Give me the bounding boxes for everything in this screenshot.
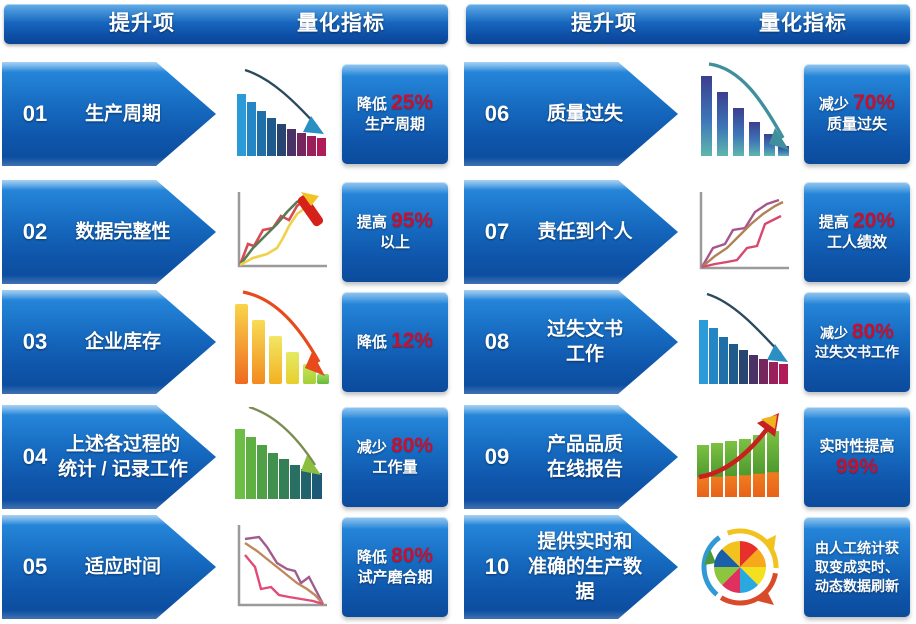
row-item-label: 提供实时和 准确的生产数据 [520, 530, 650, 605]
header-improvement-item-label: 提升项 [62, 10, 222, 38]
row-chevron[interactable]: 01 生产周期 [2, 62, 216, 166]
left-header-bar: 提升项 量化指标 [4, 4, 448, 44]
metric-value: 80% [852, 320, 894, 343]
metric-line-3: 动态数据刷新 [815, 577, 899, 596]
metric-subline: 工人绩效 [819, 233, 895, 253]
descending-bar-chart-orange-green-icon [218, 290, 338, 394]
table-row[interactable]: 01 生产周期 [0, 62, 450, 166]
metric-text: 提高 95% 以上 [354, 211, 436, 253]
metric-subline: 质量过失 [819, 115, 895, 135]
metric-text: 减少 70% 质量过失 [816, 93, 898, 135]
table-row[interactable]: 02 数据完整性 提高 95% 以上 [0, 180, 450, 284]
metric-badge: 减少 80% 过失文书工作 [804, 292, 910, 392]
row-item-label: 责任到个人 [520, 220, 650, 245]
header-improvement-item-label: 提升项 [524, 10, 684, 38]
row-number: 10 [474, 554, 520, 580]
rising-line-chart-pink-brown-icon [680, 180, 800, 284]
metric-text: 由人工统计获 取变成实时、 动态数据刷新 [812, 539, 902, 596]
metric-value: 95% [391, 209, 433, 232]
descending-bar-chart-blue-magenta-icon [218, 62, 338, 166]
metric-subline: 工作量 [357, 458, 433, 478]
row-item-label: 数据完整性 [58, 220, 188, 245]
metric-line-2: 取变成实时、 [815, 558, 899, 577]
row-item-label: 生产周期 [58, 102, 188, 127]
row-number: 05 [12, 554, 58, 580]
table-row[interactable]: 04 上述各过程的 统计 / 记录工作 [0, 405, 450, 509]
metric-prefix: 提高 [819, 214, 853, 231]
metric-value: 80% [391, 544, 433, 567]
table-row[interactable]: 05 适应时间 降低 80% 试产磨合期 [0, 515, 450, 619]
metric-prefix: 降低 [357, 549, 391, 566]
metric-value: 70% [853, 91, 895, 114]
right-panel: 提升项 量化指标 06 质量过失 [462, 0, 912, 624]
row-chevron[interactable]: 09 产品品质 在线报告 [464, 405, 678, 509]
metric-prefix: 减少 [819, 96, 853, 113]
metric-badge: 降低 80% 试产磨合期 [342, 517, 448, 617]
table-row[interactable]: 08 过失文书 工作 [462, 290, 912, 394]
row-item-label: 企业库存 [58, 330, 188, 355]
row-item-label: 适应时间 [58, 555, 188, 580]
row-number: 07 [474, 219, 520, 245]
metric-prefix: 减少 [820, 325, 852, 341]
header-quantified-metric-label: 量化指标 [256, 10, 426, 38]
row-item-label: 质量过失 [520, 102, 650, 127]
row-item-label: 上述各过程的 统计 / 记录工作 [58, 432, 188, 482]
table-row[interactable]: 07 责任到个人 提高 20% 工人绩效 [462, 180, 912, 284]
row-chevron[interactable]: 05 适应时间 [2, 515, 216, 619]
metric-prefix: 减少 [357, 439, 391, 456]
row-chevron[interactable]: 08 过失文书 工作 [464, 290, 678, 394]
metric-text: 减少 80% 工作量 [354, 436, 436, 478]
row-chevron[interactable]: 10 提供实时和 准确的生产数据 [464, 515, 678, 619]
metric-value: 25% [391, 91, 433, 114]
left-panel: 提升项 量化指标 01 生产周期 [0, 0, 450, 624]
metric-prefix: 实时性提高 [819, 438, 894, 455]
metric-line-1: 由人工统计获 [815, 540, 899, 556]
row-number: 02 [12, 219, 58, 245]
metric-value: 80% [391, 434, 433, 457]
right-header-bar: 提升项 量化指标 [466, 4, 910, 44]
header-quantified-metric-label: 量化指标 [718, 10, 888, 38]
metric-subline: 过失文书工作 [815, 343, 899, 362]
metric-badge: 降低 25% 生产周期 [342, 64, 448, 164]
row-number: 03 [12, 329, 58, 355]
table-row[interactable]: 10 提供实时和 准确的生产数据 [462, 515, 912, 619]
table-row[interactable]: 03 企业库存 [0, 290, 450, 394]
metric-badge: 提高 95% 以上 [342, 182, 448, 282]
table-row[interactable]: 06 质量过失 [462, 62, 912, 166]
metric-badge: 实时性提高 99% [804, 407, 910, 507]
metric-text: 降低 12% [354, 331, 436, 353]
metric-badge: 减少 80% 工作量 [342, 407, 448, 507]
row-item-label: 产品品质 在线报告 [520, 432, 650, 482]
metric-text: 降低 80% 试产磨合期 [354, 546, 436, 588]
metric-badge: 减少 70% 质量过失 [804, 64, 910, 164]
metric-prefix: 降低 [357, 334, 391, 351]
metric-prefix: 提高 [357, 214, 391, 231]
slide-canvas: 提升项 量化指标 01 生产周期 [0, 0, 916, 624]
metric-subline: 试产磨合期 [357, 568, 433, 588]
metric-subline: 生产周期 [357, 115, 433, 135]
metric-prefix: 降低 [357, 96, 391, 113]
descending-bar-chart-blue-magenta-icon [680, 290, 800, 394]
row-number: 01 [12, 101, 58, 127]
descending-line-chart-pink-icon [218, 515, 338, 619]
rising-bar-chart-green-orange-arrow-icon [680, 405, 800, 509]
descending-bar-chart-teal-purple-icon [680, 62, 800, 166]
row-chevron[interactable]: 04 上述各过程的 统计 / 记录工作 [2, 405, 216, 509]
metric-text: 减少 80% 过失文书工作 [812, 322, 902, 362]
metric-value: 20% [853, 209, 895, 232]
row-number: 06 [474, 101, 520, 127]
row-chevron[interactable]: 03 企业库存 [2, 290, 216, 394]
metric-text: 实时性提高 99% [816, 437, 897, 477]
rising-line-chart-red-green-yellow-icon [218, 180, 338, 284]
row-number: 04 [12, 444, 58, 470]
row-chevron[interactable]: 02 数据完整性 [2, 180, 216, 284]
metric-text: 提高 20% 工人绩效 [816, 211, 898, 253]
row-number: 09 [474, 444, 520, 470]
row-number: 08 [474, 329, 520, 355]
row-chevron[interactable]: 07 责任到个人 [464, 180, 678, 284]
metric-value: 12% [391, 329, 433, 352]
metric-value: 99% [819, 457, 894, 477]
metric-badge: 由人工统计获 取变成实时、 动态数据刷新 [804, 517, 910, 617]
colorful-pie-cycle-arrows-icon [680, 515, 800, 619]
descending-bar-chart-green-teal-icon [218, 405, 338, 509]
metric-badge: 提高 20% 工人绩效 [804, 182, 910, 282]
row-chevron[interactable]: 06 质量过失 [464, 62, 678, 166]
metric-text: 降低 25% 生产周期 [354, 93, 436, 135]
metric-subline: 以上 [357, 233, 433, 253]
metric-badge: 降低 12% [342, 292, 448, 392]
row-item-label: 过失文书 工作 [520, 317, 650, 367]
table-row[interactable]: 09 产品品质 在线报告 [462, 405, 912, 509]
